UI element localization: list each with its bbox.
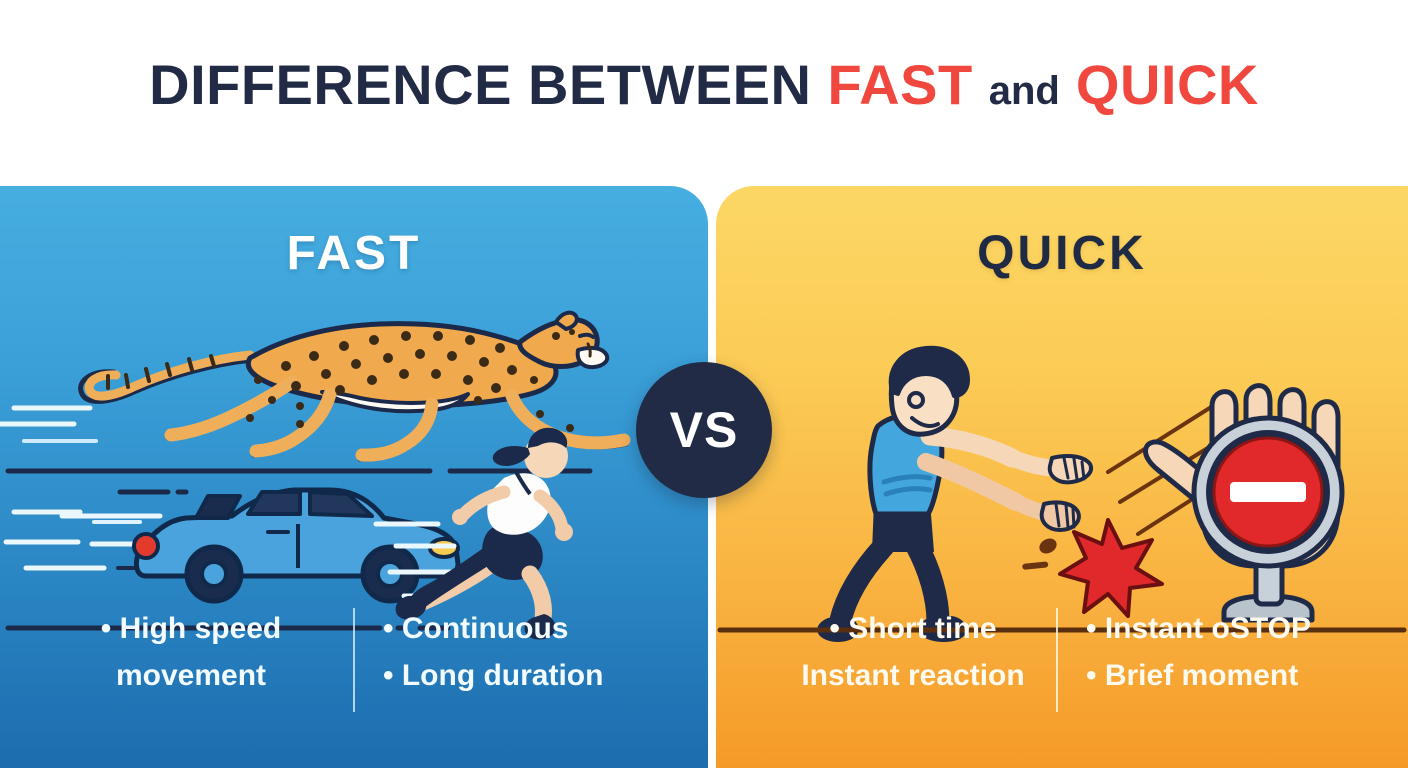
hand-lower-icon (1042, 502, 1079, 530)
title-part-quick: QUICK (1076, 53, 1259, 116)
quick-bullet-1-line-1: • Short time (798, 606, 1028, 653)
quick-bullets-group: • Short time Instant reaction • Instant … (716, 606, 1408, 712)
man-catching-icon (817, 348, 1091, 642)
header-bar: DIFFERENCE BETWEEN FAST and QUICK (0, 0, 1408, 170)
page-title: DIFFERENCE BETWEEN FAST and QUICK (149, 57, 1259, 113)
fast-bullet-2-line-2: • Long duration (383, 653, 651, 700)
speed-lines-icon (0, 408, 96, 441)
hand-upper-icon (1050, 456, 1091, 482)
vs-badge-label: VS (670, 405, 739, 455)
infographic-root: DIFFERENCE BETWEEN FAST and QUICK FAST (0, 0, 1408, 768)
title-part-and: and (989, 69, 1060, 113)
panel-fast-heading: FAST (0, 230, 708, 278)
quick-bullet-2-line-1: • Instant oSTOP (1086, 606, 1326, 653)
vs-badge: VS (636, 362, 772, 498)
fast-bullet-1-line-1: • High speed (57, 606, 325, 653)
motion-dash-icon (1022, 536, 1059, 570)
red-impact-burst-icon (1060, 520, 1162, 616)
fast-bullet-2-line-1: • Continuous (383, 606, 651, 653)
quick-bullets-column-2: • Instant oSTOP • Brief moment (1070, 606, 1342, 699)
fast-bullets-group: • High speed movement • Continuous • Lon… (0, 606, 708, 712)
no-entry-stop-sign-icon (1194, 418, 1342, 620)
fast-bullets-column-2: • Continuous • Long duration (367, 606, 667, 699)
quick-bullets-divider (1056, 608, 1058, 712)
title-part-fast: FAST (828, 53, 973, 116)
fast-bullets-divider (353, 608, 355, 712)
fast-bullet-1-line-2: movement (57, 653, 325, 700)
fast-bullets-column-1: • High speed movement (41, 606, 341, 699)
quick-bullet-2-line-2: • Brief moment (1086, 653, 1326, 700)
panel-quick-heading: QUICK (716, 230, 1408, 278)
panel-fast: FAST (0, 186, 708, 768)
quick-bullets-column-1: • Short time Instant reaction (782, 606, 1044, 699)
panel-quick: QUICK (716, 186, 1408, 768)
quick-bullet-1-line-2: Instant reaction (798, 653, 1028, 700)
title-part-difference-between: DIFFERENCE BETWEEN (149, 53, 811, 116)
